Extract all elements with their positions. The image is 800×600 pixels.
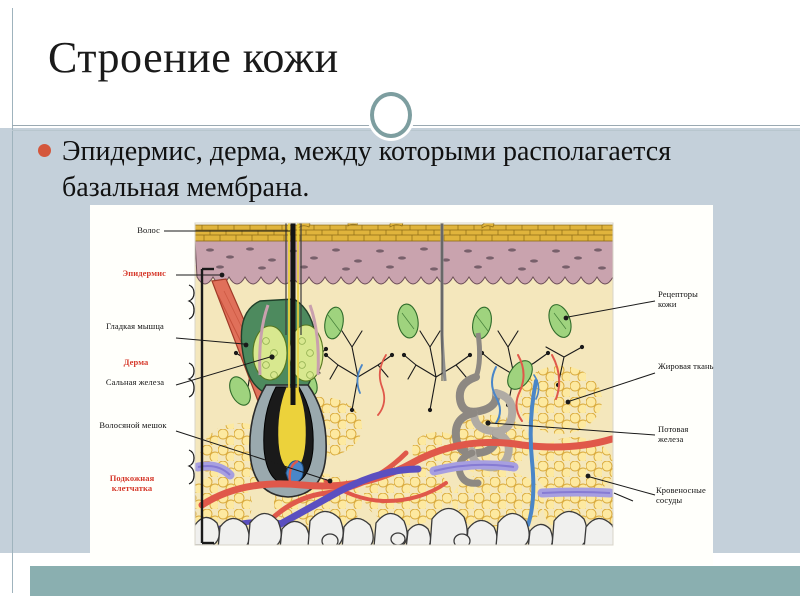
bullet-list-item: Эпидермис, дерма, между которыми распола…: [36, 134, 736, 206]
diagram-label-smooth-muscle: Гладкая мышца: [102, 321, 168, 331]
diagram-label-hair-follicle: Волосяной мешок: [96, 420, 170, 430]
diagram-label-epidermis: Эпидермис: [90, 268, 166, 278]
bullet-dot-icon: [38, 144, 51, 157]
diagram-label-fat-tissue: Жировая ткань: [658, 361, 714, 371]
slide: Строение кожи Эпидермис, дерма, между ко…: [0, 0, 800, 600]
diagram-label-sweat-gland: Потовая железа: [658, 424, 714, 445]
page-title: Строение кожи: [48, 36, 339, 80]
skin-cross-section-diagram: [90, 205, 713, 565]
diagram-label-hair: Волос: [92, 225, 160, 235]
footer-accent-band: [30, 566, 800, 596]
diagram-label-sebaceous-gland: Сальная железа: [102, 377, 168, 387]
left-border-line: [12, 8, 13, 593]
diagram-label-hypodermis: Подкожная клетчатка: [92, 473, 172, 494]
diagram-label-skin-receptors: Рецепторы кожи: [658, 289, 714, 310]
bullet-item-label: Эпидермис, дерма, между которыми распола…: [62, 134, 736, 206]
skin-body: [184, 221, 620, 551]
diagram-label-blood-vessels: Кровеносные сосуды: [656, 485, 714, 506]
diagram-label-dermis: Дерма: [108, 357, 164, 367]
ring-decoration-icon: [370, 92, 412, 138]
diagram-image-panel: Волос Эпидермис Гладкая мышца Дерма Саль…: [90, 205, 713, 565]
